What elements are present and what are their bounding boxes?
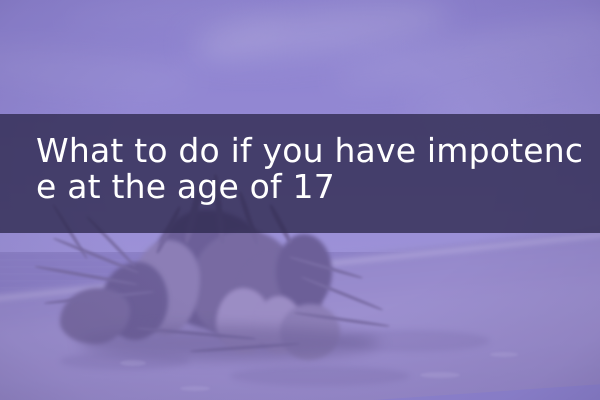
caption-banner: What to do if you have impotenc e at the… — [0, 114, 600, 233]
sand-speck — [420, 372, 460, 378]
sand-speck — [490, 352, 518, 357]
sand-speck — [180, 386, 210, 391]
caption-headline: What to do if you have impotenc e at the… — [36, 133, 600, 205]
cloud-wisp — [0, 42, 201, 103]
stump-shadow — [80, 326, 380, 360]
image-card: What to do if you have impotenc e at the… — [0, 0, 600, 400]
